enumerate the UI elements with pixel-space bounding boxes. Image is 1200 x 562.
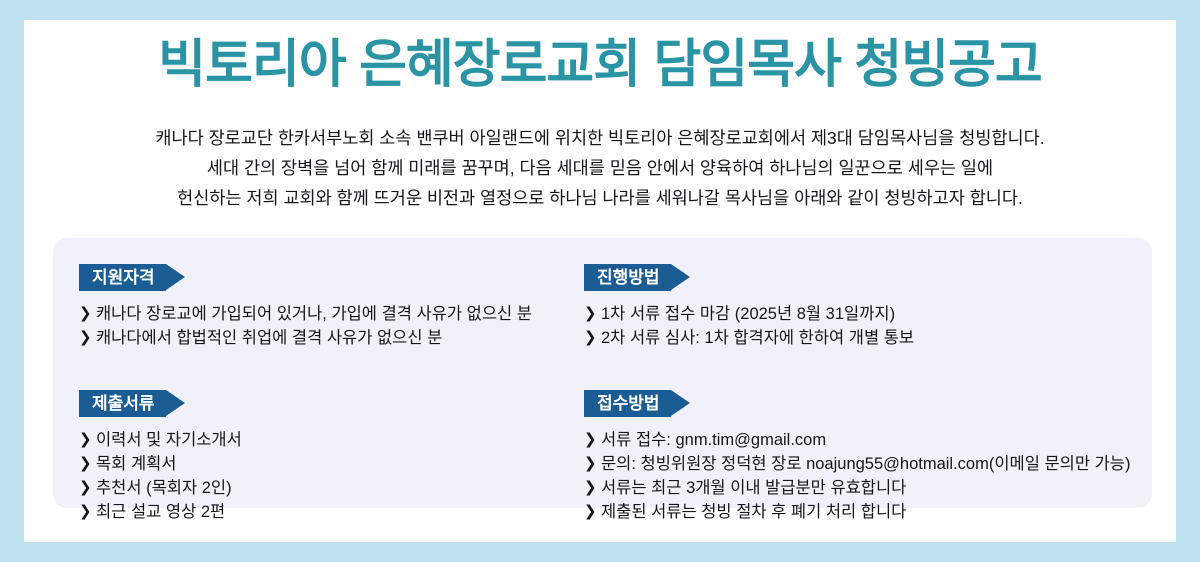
list-item-text: 1차 서류 접수 마감 (2025년 8월 31일까지) (601, 305, 895, 323)
qualifications-list: ❯캐나다 장로교에 가입되어 있거나, 가입에 결격 사유가 없으신 분 ❯캐나… (79, 302, 579, 350)
chevron-right-icon: ❯ (79, 326, 92, 350)
intro-line-1: 캐나다 장로교단 한카서부노회 소속 밴쿠버 아일랜드에 위치한 빅토리아 은혜… (34, 123, 1166, 153)
section-submission: 접수방법 ❯서류 접수: gnm.tim@gmail.com ❯문의: 청빙위원… (584, 390, 1129, 524)
chevron-right-icon: ❯ (584, 326, 597, 350)
list-item-text: 최근 설교 영상 2편 (96, 503, 225, 521)
left-column: 지원자격 ❯캐나다 장로교에 가입되어 있거나, 가입에 결격 사유가 없으신 … (79, 264, 579, 528)
list-item: ❯최근 설교 영상 2편 (79, 500, 579, 524)
intro-paragraph: 캐나다 장로교단 한카서부노회 소속 밴쿠버 아일랜드에 위치한 빅토리아 은혜… (34, 123, 1166, 213)
section-header-documents: 제출서류 (79, 390, 166, 417)
process-list: ❯1차 서류 접수 마감 (2025년 8월 31일까지) ❯2차 서류 심사:… (584, 302, 1129, 350)
section-header-process: 진행방법 (584, 264, 671, 291)
list-item: ❯2차 서류 심사: 1차 합격자에 한하여 개별 통보 (584, 326, 1129, 350)
list-item: ❯추천서 (목회자 2인) (79, 476, 579, 500)
chevron-right-icon: ❯ (584, 452, 597, 476)
list-item: ❯캐나다 장로교에 가입되어 있거나, 가입에 결격 사유가 없으신 분 (79, 302, 579, 326)
chevron-right-icon: ❯ (584, 476, 597, 500)
list-item: ❯문의: 청빙위원장 정덕현 장로 noajung55@hotmail.com(… (584, 452, 1129, 476)
poster-card: 빅토리아 은혜장로교회 담임목사 청빙공고 캐나다 장로교단 한카서부노회 소속… (24, 20, 1176, 542)
section-header-submission: 접수방법 (584, 390, 671, 417)
section-qualifications: 지원자격 ❯캐나다 장로교에 가입되어 있거나, 가입에 결격 사유가 없으신 … (79, 264, 579, 350)
list-item: ❯제출된 서류는 청빙 절차 후 폐기 처리 합니다 (584, 500, 1129, 524)
list-item: ❯서류 접수: gnm.tim@gmail.com (584, 428, 1129, 452)
chevron-right-icon: ❯ (584, 302, 597, 326)
chevron-right-icon: ❯ (79, 476, 92, 500)
list-item-text: 캐나다에서 합법적인 취업에 결격 사유가 없으신 분 (96, 329, 442, 347)
list-item-text: 서류는 최근 3개월 이내 발급분만 유효합니다 (601, 479, 906, 497)
right-column: 진행방법 ❯1차 서류 접수 마감 (2025년 8월 31일까지) ❯2차 서… (584, 264, 1129, 528)
page-title: 빅토리아 은혜장로교회 담임목사 청빙공고 (24, 36, 1176, 94)
list-item-text: 캐나다 장로교에 가입되어 있거나, 가입에 결격 사유가 없으신 분 (96, 305, 532, 323)
list-item: ❯이력서 및 자기소개서 (79, 428, 579, 452)
list-item-text: 이력서 및 자기소개서 (96, 431, 242, 449)
chevron-right-icon: ❯ (79, 428, 92, 452)
section-process: 진행방법 ❯1차 서류 접수 마감 (2025년 8월 31일까지) ❯2차 서… (584, 264, 1129, 350)
chevron-right-icon: ❯ (79, 302, 92, 326)
list-item-text: 서류 접수: gnm.tim@gmail.com (601, 431, 826, 449)
section-header-qualifications: 지원자격 (79, 264, 166, 291)
documents-list: ❯이력서 및 자기소개서 ❯목회 계획서 ❯추천서 (목회자 2인) ❯최근 설… (79, 428, 579, 524)
list-item: ❯1차 서류 접수 마감 (2025년 8월 31일까지) (584, 302, 1129, 326)
chevron-right-icon: ❯ (584, 428, 597, 452)
list-item-text: 목회 계획서 (96, 455, 176, 473)
list-item: ❯서류는 최근 3개월 이내 발급분만 유효합니다 (584, 476, 1129, 500)
list-item-text: 2차 서류 심사: 1차 합격자에 한하여 개별 통보 (601, 329, 914, 347)
chevron-right-icon: ❯ (79, 500, 92, 524)
intro-line-3: 헌신하는 저희 교회와 함께 뜨거운 비전과 열정으로 하나님 나라를 세워나갈… (34, 183, 1166, 213)
chevron-right-icon: ❯ (584, 500, 597, 524)
list-item-text: 추천서 (목회자 2인) (96, 479, 232, 497)
intro-line-2: 세대 간의 장벽을 넘어 함께 미래를 꿈꾸며, 다음 세대를 믿음 안에서 양… (34, 153, 1166, 183)
list-item: ❯캐나다에서 합법적인 취업에 결격 사유가 없으신 분 (79, 326, 579, 350)
chevron-right-icon: ❯ (79, 452, 92, 476)
details-panel: 지원자격 ❯캐나다 장로교에 가입되어 있거나, 가입에 결격 사유가 없으신 … (53, 238, 1152, 508)
list-item-text: 문의: 청빙위원장 정덕현 장로 noajung55@hotmail.com(이… (601, 455, 1130, 473)
section-documents: 제출서류 ❯이력서 및 자기소개서 ❯목회 계획서 ❯추천서 (목회자 2인) … (79, 390, 579, 524)
list-item-text: 제출된 서류는 청빙 절차 후 폐기 처리 합니다 (601, 503, 906, 521)
list-item: ❯목회 계획서 (79, 452, 579, 476)
submission-list: ❯서류 접수: gnm.tim@gmail.com ❯문의: 청빙위원장 정덕현… (584, 428, 1129, 524)
